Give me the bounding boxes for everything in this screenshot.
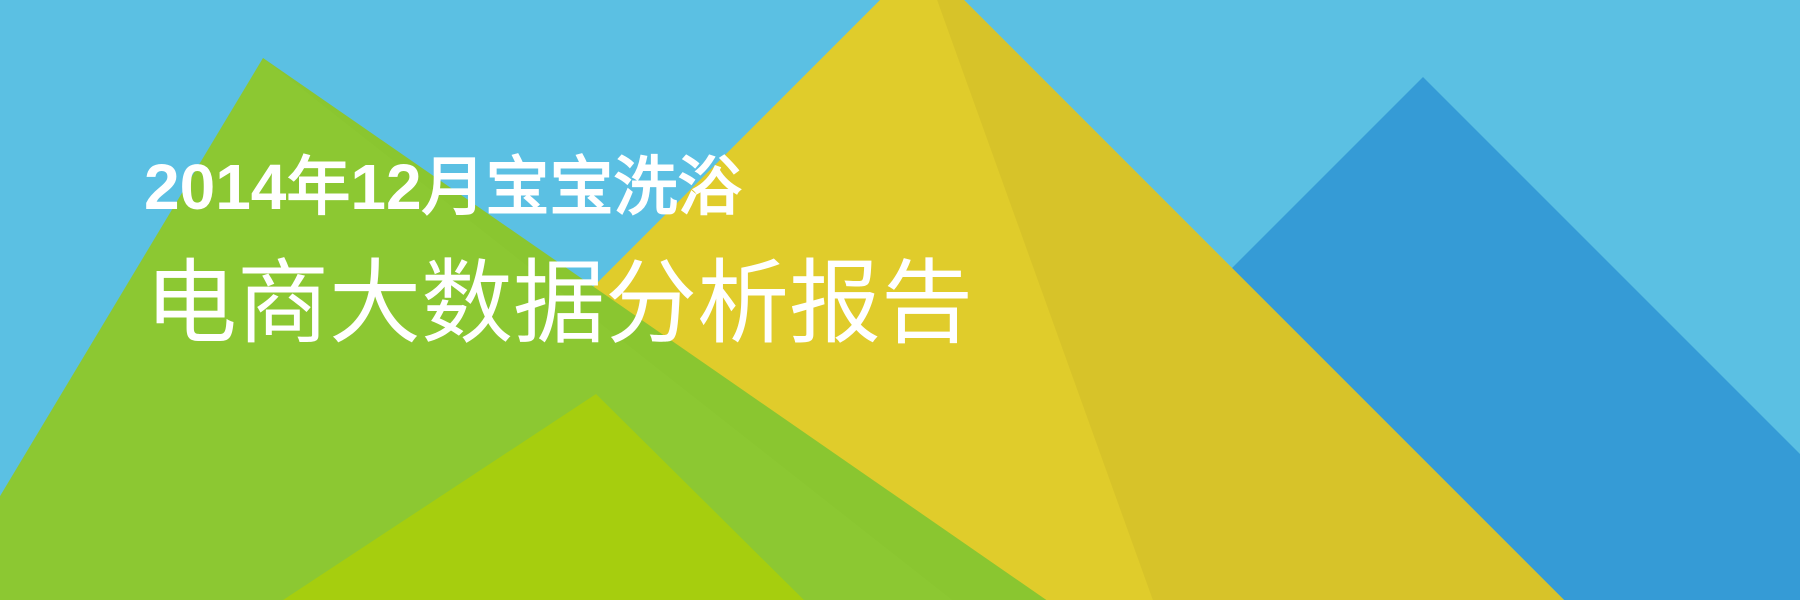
- report-cover-banner: 2014年12月宝宝洗浴 电商大数据分析报告: [0, 0, 1800, 600]
- decorative-background-graphic: [0, 0, 1800, 600]
